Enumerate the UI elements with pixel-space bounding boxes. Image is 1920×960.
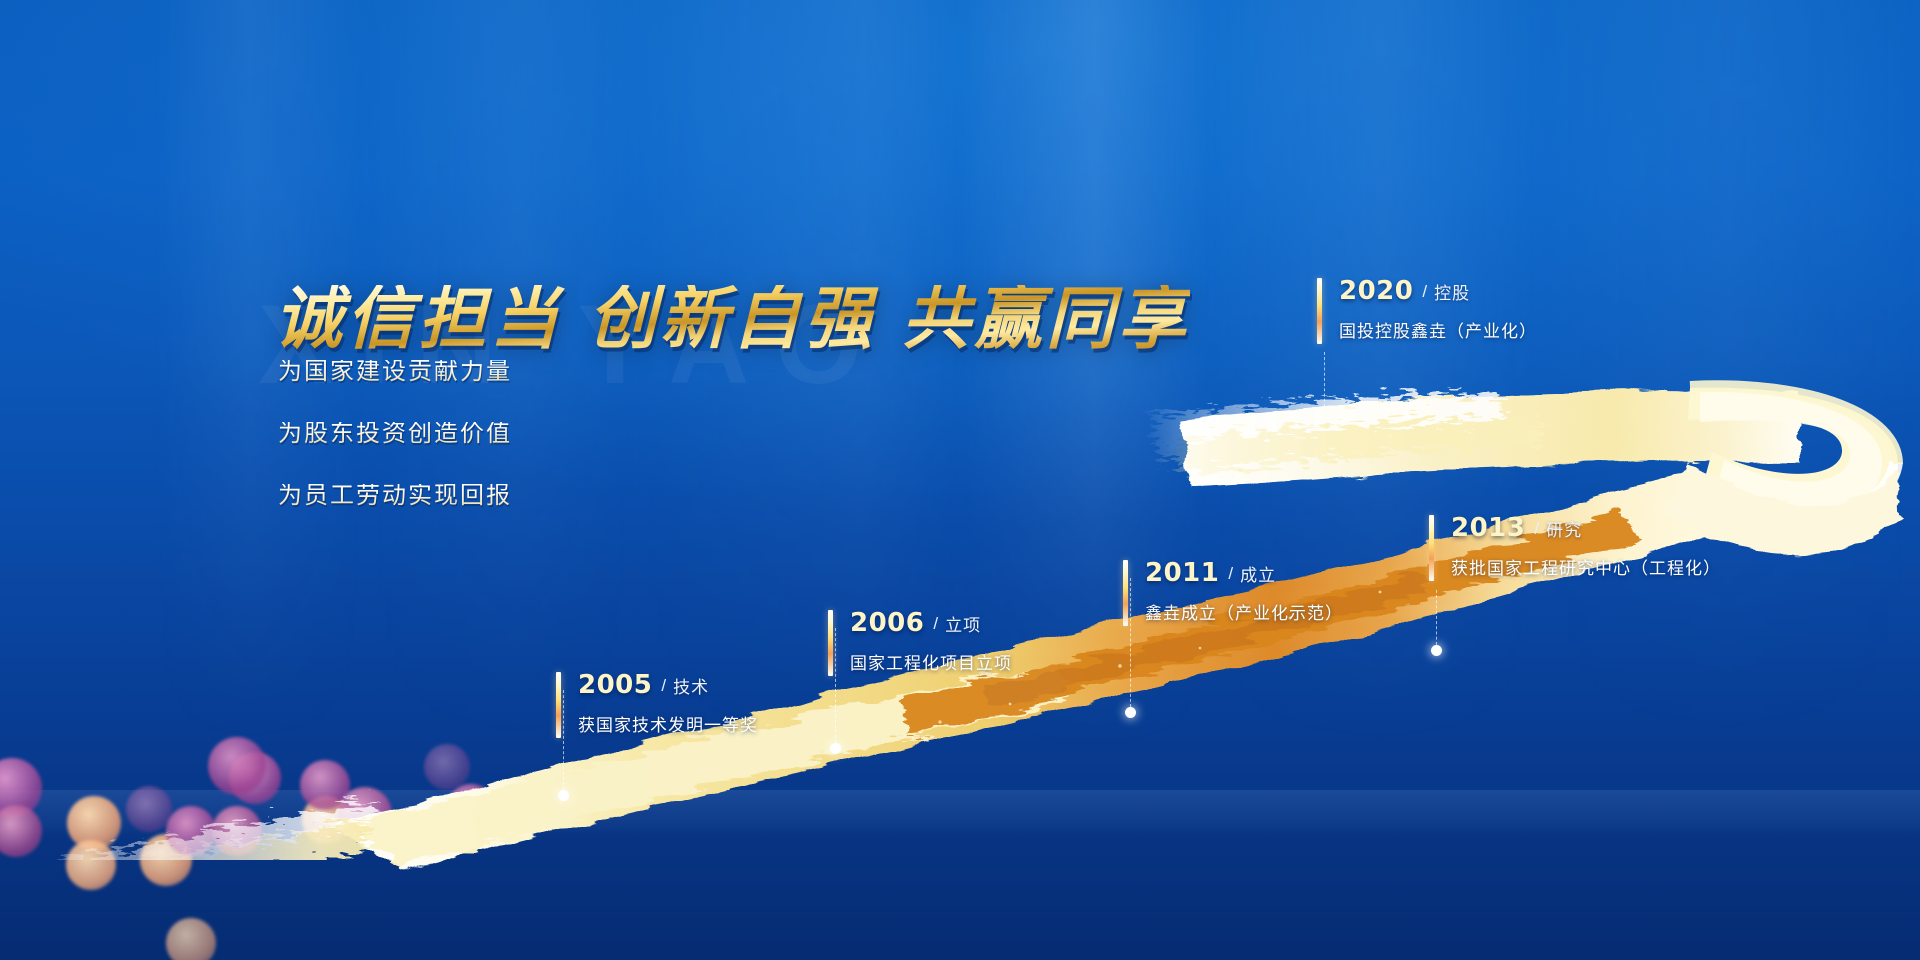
- timeline-separator: /: [1534, 519, 1539, 538]
- timeline-connector-line: [835, 628, 836, 748]
- timeline-connector-line: [1130, 578, 1131, 712]
- timeline-year: 2011: [1145, 558, 1219, 588]
- timeline-year: 2006: [850, 608, 924, 638]
- timeline-node-dot: [1431, 645, 1442, 656]
- timeline-description: 国投控股鑫垚（产业化）: [1339, 317, 1537, 342]
- timeline-entry-heading: 2005/技术: [578, 670, 758, 700]
- timeline-entry-heading: 2020/控股: [1339, 276, 1537, 306]
- timeline-node-dot: [1125, 707, 1136, 718]
- timeline-connector-line: [563, 690, 564, 795]
- timeline-tag: 研究: [1546, 521, 1582, 540]
- timeline-description: 获批国家工程研究中心（工程化）: [1451, 554, 1721, 579]
- timeline-description: 国家工程化项目立项: [850, 649, 1012, 674]
- timeline-tag: 成立: [1240, 566, 1276, 585]
- timeline-tag: 技术: [673, 678, 709, 697]
- timeline-accent-bar: [1123, 560, 1128, 626]
- timeline-year: 2020: [1339, 276, 1413, 306]
- timeline-entry-text: 2020/控股 国投控股鑫垚（产业化）: [1339, 276, 1537, 342]
- timeline-separator: /: [1228, 564, 1233, 583]
- timeline-entry-heading: 2013/研究: [1451, 513, 1721, 543]
- timeline-tag: 立项: [945, 616, 981, 635]
- timeline-year: 2013: [1451, 513, 1525, 543]
- timeline-connector-line: [1436, 590, 1437, 650]
- timeline-connectors: [0, 0, 1920, 960]
- timeline-tag: 控股: [1434, 284, 1470, 303]
- timeline-accent-bar: [1317, 278, 1322, 344]
- timeline-entry-text: 2005/技术 获国家技术发明一等奖: [578, 670, 758, 736]
- timeline-entry-text: 2006/立项 国家工程化项目立项: [850, 608, 1012, 674]
- timeline-entry-text: 2011/成立 鑫垚成立（产业化示范）: [1145, 558, 1343, 624]
- timeline-separator: /: [933, 614, 938, 633]
- timeline-separator: /: [661, 676, 666, 695]
- timeline-entry-text: 2013/研究 获批国家工程研究中心（工程化）: [1451, 513, 1721, 579]
- timeline-accent-bar: [828, 610, 833, 676]
- timeline-node-dot: [558, 790, 569, 801]
- timeline-node-dot: [830, 743, 841, 754]
- timeline-accent-bar: [1429, 515, 1434, 581]
- timeline-connector-line: [1324, 352, 1325, 412]
- timeline-separator: /: [1422, 282, 1427, 301]
- timeline-description: 获国家技术发明一等奖: [578, 711, 758, 736]
- timeline-entry-heading: 2011/成立: [1145, 558, 1343, 588]
- banner-canvas: XIN YAO 诚信担当创新自强共赢同享 为国家建设贡献力量 为股东投资创造价值…: [0, 0, 1920, 960]
- timeline-year: 2005: [578, 670, 652, 700]
- timeline-accent-bar: [556, 672, 561, 738]
- timeline-entry-heading: 2006/立项: [850, 608, 1012, 638]
- timeline-description: 鑫垚成立（产业化示范）: [1145, 599, 1343, 624]
